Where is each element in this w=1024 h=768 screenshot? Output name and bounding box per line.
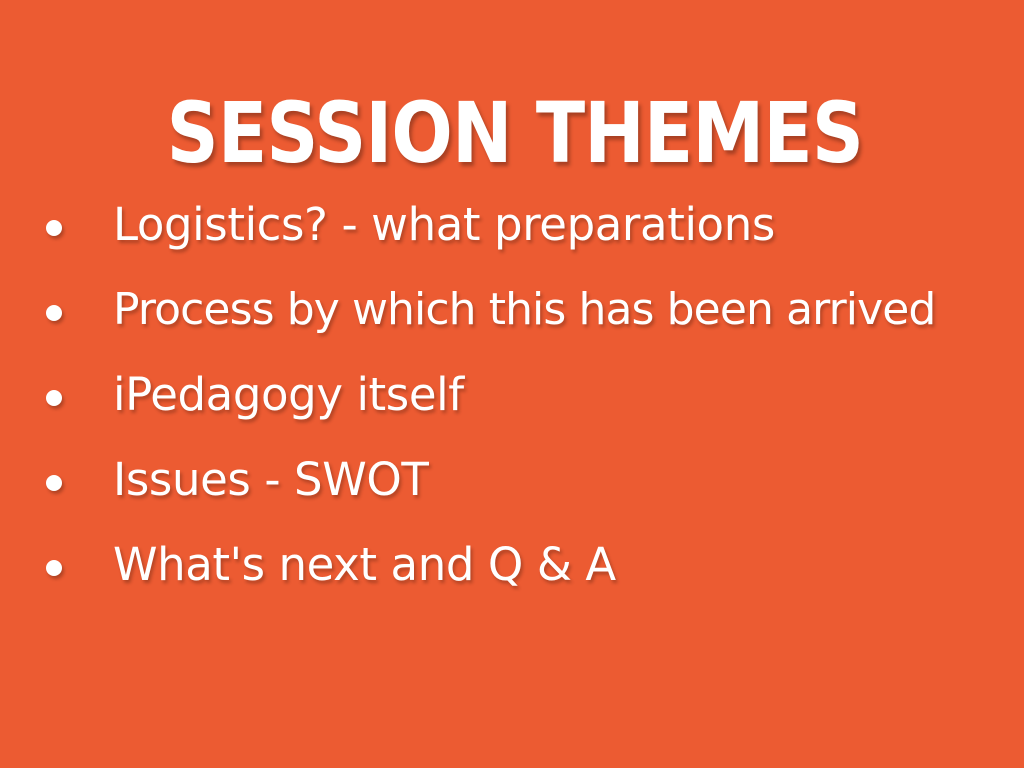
list-item-label: Logistics? - what preparations xyxy=(113,196,1006,254)
list-item-label: Issues - SWOT xyxy=(113,451,1006,509)
bullet-list: Logistics? - what preparations Process b… xyxy=(46,196,1006,621)
page-title: SESSION THEMES xyxy=(75,90,956,176)
bullet-point-icon xyxy=(46,305,62,321)
bullet-point-icon xyxy=(46,560,62,576)
list-item: Logistics? - what preparations xyxy=(46,196,1006,281)
bullet-point-icon xyxy=(46,390,62,406)
bullet-point-icon xyxy=(46,220,62,236)
bullet-point-icon xyxy=(46,475,62,491)
list-item: Process by which this has been arrived xyxy=(46,281,1006,366)
list-item: Issues - SWOT xyxy=(46,451,1006,536)
list-item-label: What's next and Q & A xyxy=(113,536,1006,594)
presentation-slide: SESSION THEMES Logistics? - what prepara… xyxy=(0,0,1024,768)
list-item-label: Process by which this has been arrived xyxy=(113,281,1006,339)
list-item-label: iPedagogy itself xyxy=(113,366,1006,424)
list-item: What's next and Q & A xyxy=(46,536,1006,621)
list-item: iPedagogy itself xyxy=(46,366,1006,451)
